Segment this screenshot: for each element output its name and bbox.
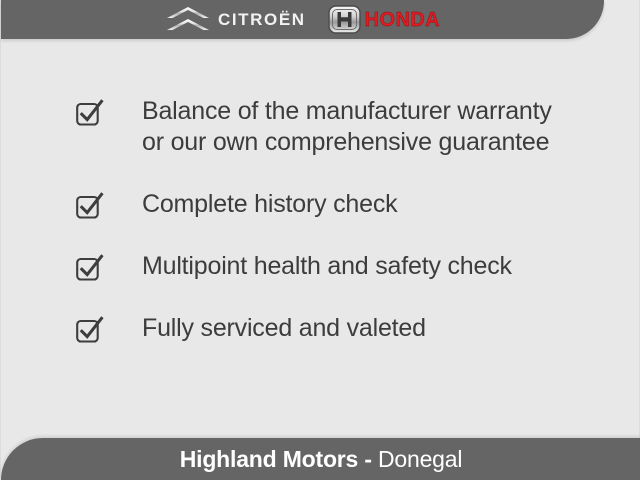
dealer-separator: - <box>358 446 378 472</box>
brand-logo-row: CITROËN <box>1 0 604 39</box>
feature-list: Balance of the manufacturer warranty or … <box>75 96 595 345</box>
checkbox-checked-icon <box>75 313 113 345</box>
citroen-logo: CITROËN <box>165 5 306 35</box>
checkbox-checked-icon <box>75 189 113 221</box>
honda-h-badge-icon <box>328 5 361 34</box>
list-item: Balance of the manufacturer warranty or … <box>75 96 595 159</box>
citroen-wordmark: CITROËN <box>218 11 306 28</box>
list-item: Fully serviced and valeted <box>75 313 595 345</box>
checkbox-checked-icon <box>75 96 113 128</box>
honda-logo: HONDA <box>328 5 440 35</box>
citroen-double-chevron-icon <box>165 6 211 34</box>
feature-text: Balance of the manufacturer warranty or … <box>142 96 552 159</box>
feature-text: Fully serviced and valeted <box>142 313 426 344</box>
dealer-name: Highland Motors <box>180 446 358 472</box>
dealer-location: Donegal <box>378 446 462 472</box>
checkbox-checked-icon <box>75 251 113 283</box>
feature-text: Multipoint health and safety check <box>142 251 512 282</box>
dealer-footer-bar: Highland Motors - Donegal <box>1 438 640 480</box>
brand-header-bar: CITROËN <box>1 0 604 39</box>
promo-slide: CITROËN <box>0 0 640 480</box>
list-item: Complete history check <box>75 189 595 221</box>
honda-wordmark: HONDA <box>365 10 440 30</box>
list-item: Multipoint health and safety check <box>75 251 595 283</box>
feature-text: Complete history check <box>142 189 397 220</box>
dealer-banner: Highland Motors - Donegal <box>180 448 463 471</box>
